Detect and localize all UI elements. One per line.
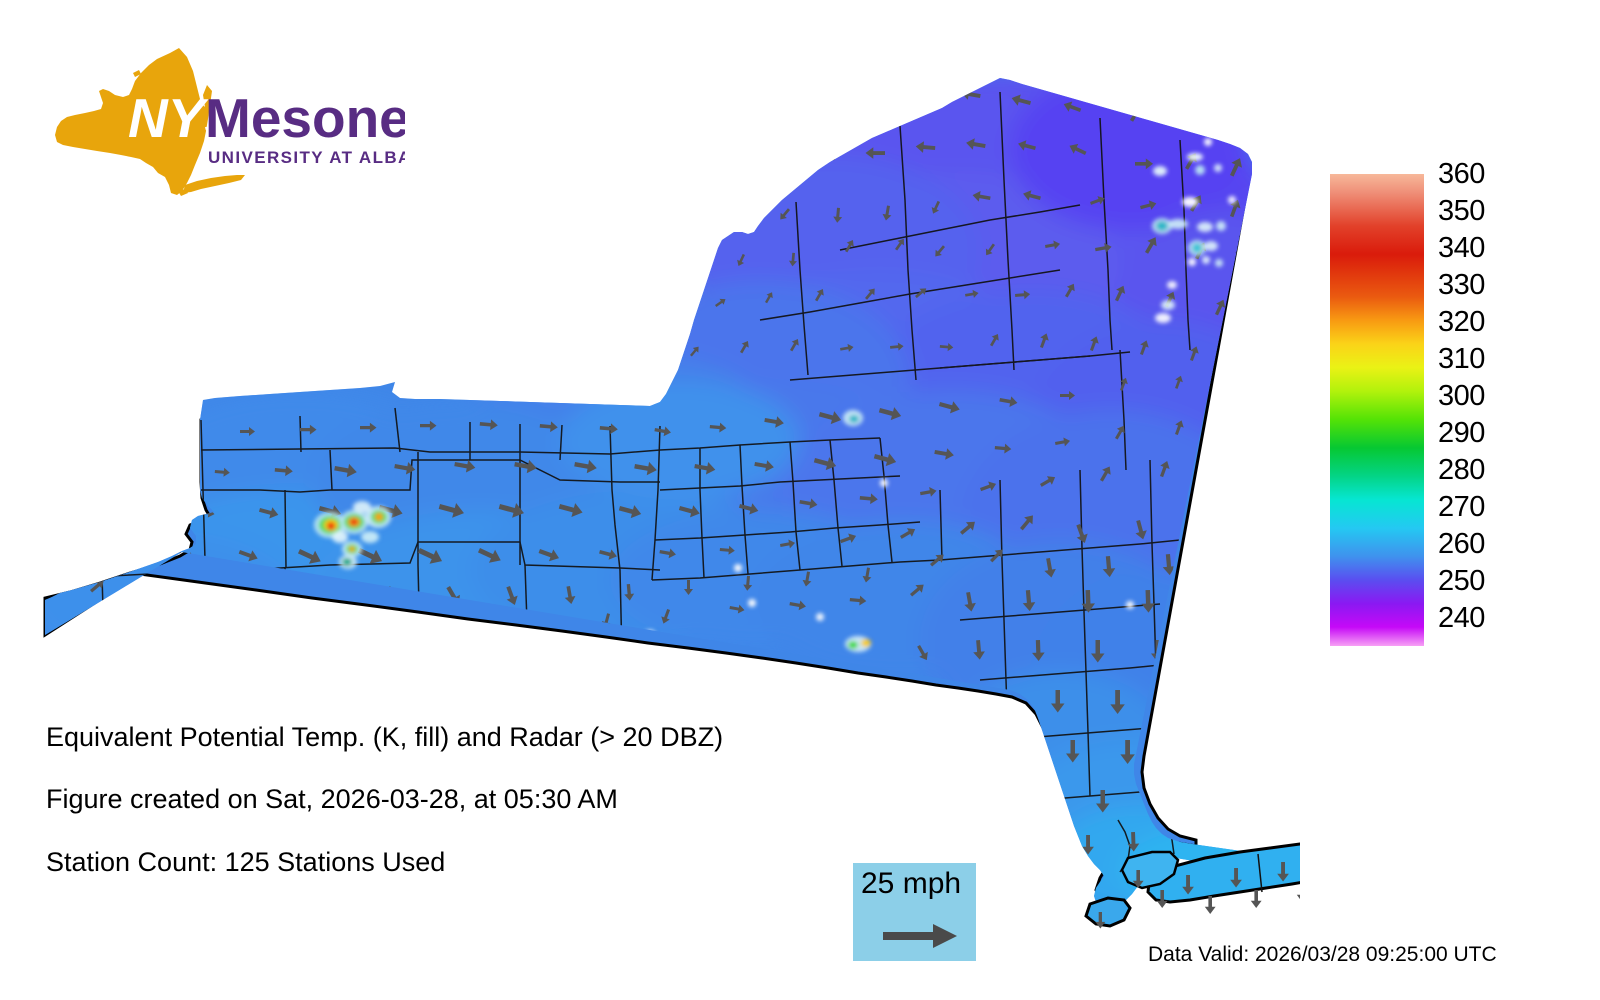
data-valid-timestamp: Data Valid: 2026/03/28 09:25:00 UTC: [1148, 943, 1497, 967]
radar-cell: [1188, 240, 1206, 256]
radar-cell: [339, 555, 357, 569]
station-count-text: Station Count: 125 Stations Used: [46, 847, 445, 877]
chart-title: Equivalent Potential Temp. (K, fill) and…: [46, 722, 723, 752]
colorbar-tick-340: 340: [1438, 234, 1485, 263]
colorbar-tick-270: 270: [1438, 493, 1485, 522]
colorbar-tick-360: 360: [1438, 160, 1485, 189]
colorbar-tick-330: 330: [1438, 271, 1485, 300]
wind-legend-label: 25 mph: [861, 867, 961, 901]
colorbar-tick-310: 310: [1438, 345, 1485, 374]
radar-cell: [340, 510, 368, 534]
wind-speed-legend: 25 mph: [853, 863, 976, 961]
colorbar-tick-250: 250: [1438, 567, 1485, 596]
colorbar-tick-260: 260: [1438, 530, 1485, 559]
colorbar-tick-320: 320: [1438, 308, 1485, 337]
figure-created-text: Figure created on Sat, 2026-03-28, at 05…: [46, 784, 618, 814]
radar-cell: [342, 541, 362, 557]
colorbar-tick-300: 300: [1438, 382, 1485, 411]
right-arrow-icon: [881, 921, 961, 951]
radar-cell: [843, 410, 863, 426]
colorbar: 360 350 340 330 320 310 300 290 280 270 …: [1330, 174, 1590, 654]
colorbar-tick-290: 290: [1438, 419, 1485, 448]
colorbar-gradient: [1330, 174, 1424, 646]
radar-cell: [845, 636, 871, 652]
colorbar-tick-280: 280: [1438, 456, 1485, 485]
colorbar-tick-240: 240: [1438, 604, 1485, 633]
colorbar-tick-350: 350: [1438, 197, 1485, 226]
